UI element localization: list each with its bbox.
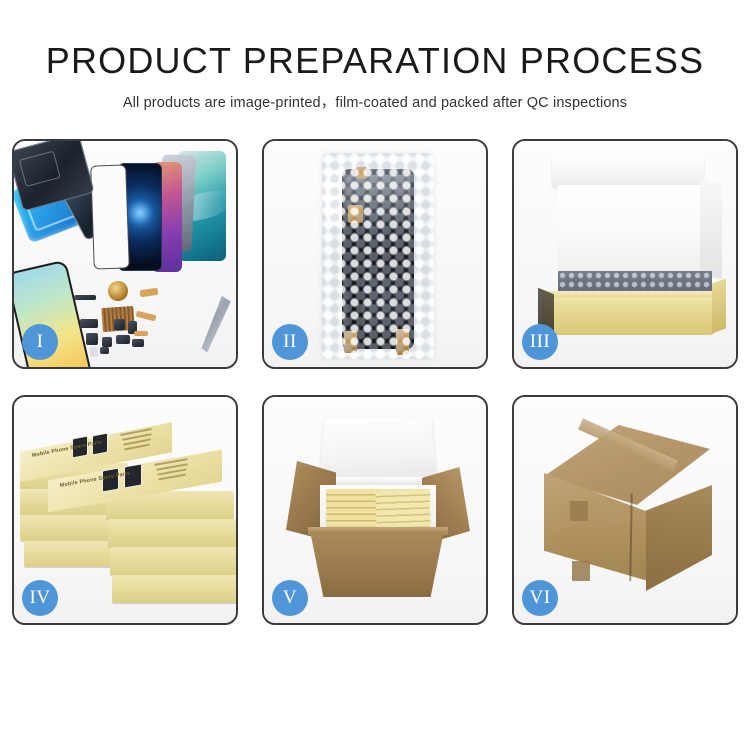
flex-cable [134, 331, 148, 336]
flex-cable [140, 288, 159, 297]
speaker-module [108, 281, 128, 301]
spare-part [86, 333, 98, 345]
process-step-2: II [262, 139, 488, 369]
kraft-box-right-side [712, 278, 726, 333]
page-title: PRODUCT PREPARATION PROCESS [0, 42, 750, 80]
step-5-image: V [264, 397, 486, 623]
tempered-glass-film [90, 164, 130, 269]
kraft-boxes-inside [375, 489, 430, 528]
process-step-3: III [512, 139, 738, 369]
kraft-box-stack: Mobile Phone Spare Parts Mobile Phone Sp… [20, 423, 234, 609]
styrofoam-lid [319, 418, 437, 482]
step-1-badge: I [22, 324, 58, 360]
spare-part [102, 337, 112, 347]
step-3-badge: III [522, 324, 558, 360]
step-6-image: VI [514, 397, 736, 623]
step-3-image: III [514, 141, 736, 367]
header: PRODUCT PREPARATION PROCESS All products… [0, 0, 750, 112]
step-4-image: Mobile Phone Spare Parts Mobile Phone Sp… [14, 397, 236, 623]
spare-part [80, 319, 98, 328]
spare-part [116, 335, 130, 344]
process-step-6: VI [512, 395, 738, 625]
step-2-badge: II [272, 324, 308, 360]
spare-part [74, 295, 96, 300]
flex-cable [136, 311, 157, 322]
process-step-5: V [262, 395, 488, 625]
carton-right-face [646, 485, 712, 591]
box-lid-flap [552, 155, 704, 187]
tweezers-tool [195, 293, 232, 354]
stacked-box [110, 547, 236, 575]
spare-part [132, 339, 144, 347]
carton-tape-tab [570, 501, 588, 521]
spare-part [114, 319, 125, 330]
step-5-badge: V [272, 580, 308, 616]
step-1-image: I [14, 141, 236, 367]
step-4-badge: IV [22, 580, 58, 616]
kraft-box-front [542, 297, 714, 335]
carton-tape-tab [572, 561, 590, 581]
page-subtitle: All products are image-printed，film-coat… [0, 91, 750, 112]
step-6-badge: VI [522, 580, 558, 616]
foam-liner-side [700, 179, 722, 279]
spare-part [100, 347, 109, 354]
foam-liner [558, 185, 706, 271]
stacked-box [108, 519, 236, 547]
stacked-box [112, 575, 236, 603]
product-preparation-infographic: PRODUCT PREPARATION PROCESS All products… [0, 0, 750, 750]
process-step-1: I [12, 139, 238, 369]
process-step-grid: I II [12, 139, 738, 679]
spare-part [90, 347, 98, 357]
carton-front [310, 531, 444, 597]
bubble-wrap-bag [322, 153, 434, 359]
process-step-4: Mobile Phone Spare Parts Mobile Phone Sp… [12, 395, 238, 625]
bubble-texture [322, 153, 434, 359]
step-2-image: II [264, 141, 486, 367]
